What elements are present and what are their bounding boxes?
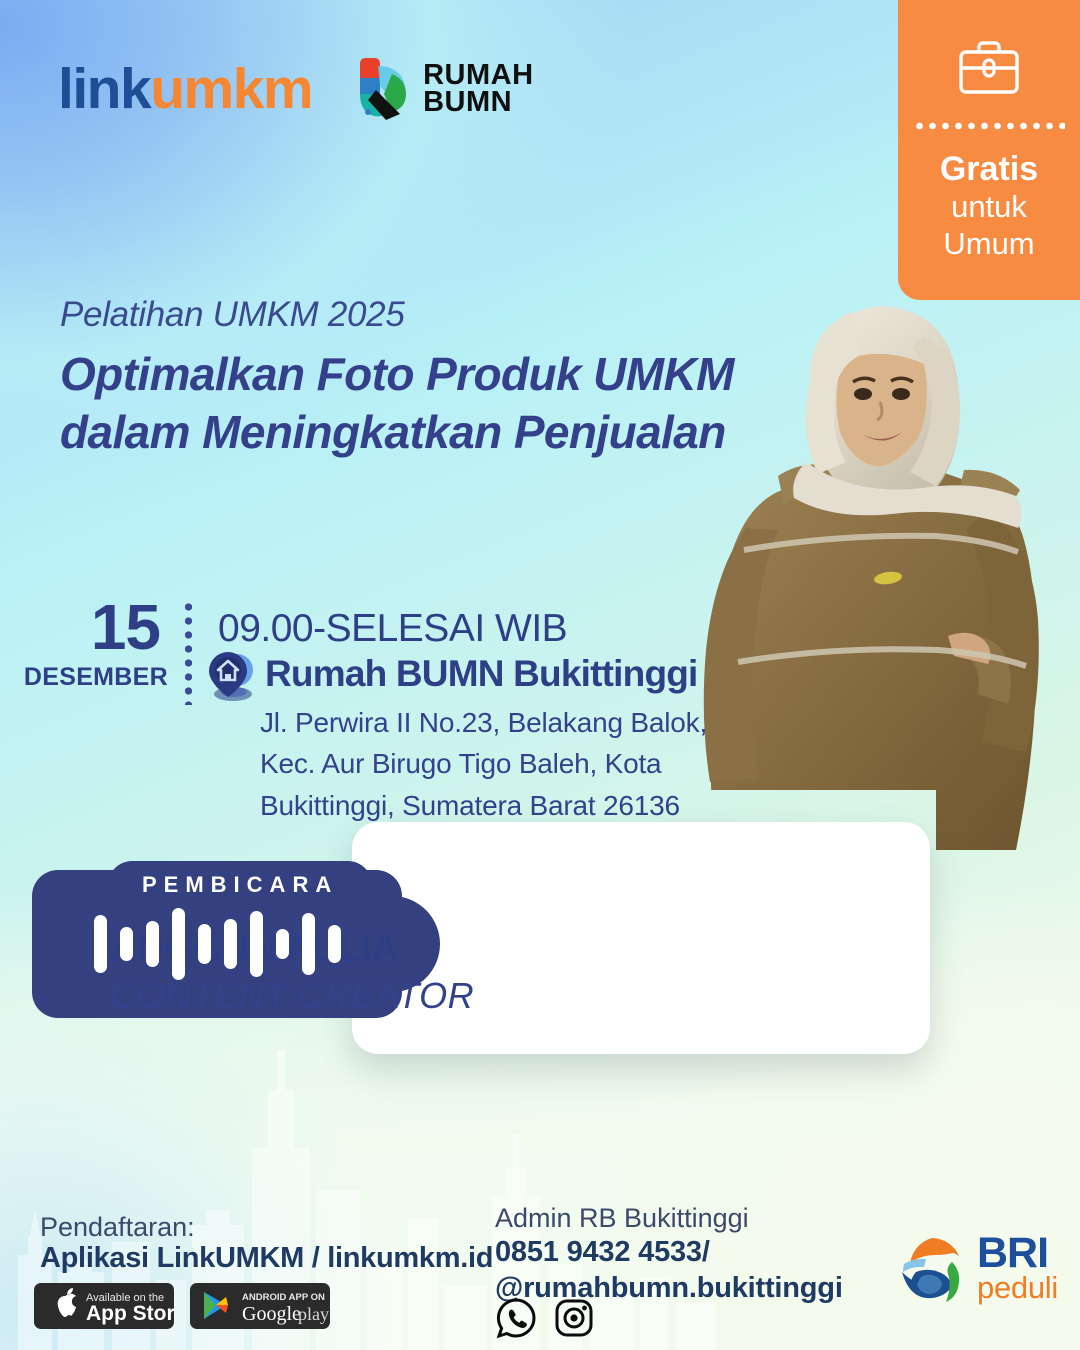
svg-text:Google: Google <box>242 1303 301 1325</box>
rumah-bumn-line2: BUMN <box>423 89 533 116</box>
waveform-bar <box>250 911 263 977</box>
svg-text:ANDROID APP ON: ANDROID APP ON <box>242 1292 325 1303</box>
briefcase-icon <box>958 38 1020 96</box>
bri-peduli-mark-icon <box>896 1232 968 1304</box>
waveform-bar <box>94 915 107 973</box>
admin-phone: 0851 9432 4533/ <box>495 1236 710 1269</box>
event-day: 15 <box>0 600 168 655</box>
rumah-bumn-line1: RUMAH <box>423 62 533 89</box>
waveform-bar <box>276 929 289 959</box>
instagram-icon[interactable] <box>552 1296 596 1340</box>
badge-dotted-divider <box>913 122 1065 130</box>
event-kicker: Pelatihan UMKM 2025 <box>60 295 405 335</box>
whatsapp-icon[interactable] <box>494 1296 538 1340</box>
free-admission-badge: Gratis untuk Umum <box>898 0 1080 300</box>
rumah-bumn-wordmark: RUMAH BUMN <box>423 62 533 116</box>
admin-label: Admin RB Bukittinggi <box>495 1203 749 1234</box>
speaker-role: CONTENT CREATOR <box>110 975 474 1017</box>
rumah-bumn-logo: RUMAH BUMN <box>354 56 533 122</box>
bri-wordmark: BRI peduli <box>977 1234 1058 1302</box>
linkumkm-logo-umkm: umkm <box>150 57 312 121</box>
waveform-bar <box>172 908 185 980</box>
event-venue: Rumah BUMN Bukittinggi <box>265 653 698 695</box>
event-month: DESEMBER <box>0 663 168 692</box>
svg-text:play: play <box>298 1304 329 1324</box>
registration-label: Pendaftaran: <box>40 1212 195 1243</box>
waveform-bar <box>328 925 341 963</box>
event-date-block: 15 DESEMBER <box>0 600 168 692</box>
waveform-bar <box>146 921 159 967</box>
social-icons <box>494 1296 596 1340</box>
vertical-dotted-divider <box>184 600 193 705</box>
event-time: 09.00-SELESAI WIB <box>218 607 567 651</box>
location-pin-house-icon <box>203 648 259 704</box>
badge-line-gratis: Gratis <box>940 150 1038 188</box>
poster-canvas: linkumkm RUMAH BUMN Grati <box>0 0 1080 1350</box>
bri-peduli-logo: BRI peduli <box>896 1232 1058 1304</box>
page-title: Optimalkan Foto Produk UMKM dalam Mening… <box>60 345 750 462</box>
waveform-bar <box>198 924 211 964</box>
bri-name: BRI <box>977 1234 1058 1274</box>
bri-sub: peduli <box>977 1274 1058 1303</box>
speaker-label-pill: PEMBICARA <box>108 861 372 909</box>
waveform-bar <box>120 927 133 961</box>
waveform-bar <box>224 919 237 969</box>
header-logos: linkumkm RUMAH BUMN <box>58 56 534 122</box>
app-store-badge-icon[interactable]: Available on the App Store <box>34 1283 174 1329</box>
event-address: Jl. Perwira II No.23, Belakang Balok, Ke… <box>260 702 730 826</box>
registration-value: Aplikasi LinkUMKM / linkumkm.id <box>40 1242 493 1275</box>
waveform-bar <box>302 913 315 975</box>
app-store-badges: Available on the App Store ANDROID APP O… <box>34 1283 330 1329</box>
badge-line-untuk: untuk <box>951 188 1027 225</box>
svg-text:App Store: App Store <box>86 1302 174 1325</box>
rumah-bumn-mark-icon <box>354 56 412 122</box>
linkumkm-logo-link: link <box>58 57 150 121</box>
badge-line-umum: Umum <box>943 225 1034 262</box>
linkumkm-logo: linkumkm <box>58 61 312 118</box>
google-play-badge-icon[interactable]: ANDROID APP ON Google play <box>190 1283 330 1329</box>
